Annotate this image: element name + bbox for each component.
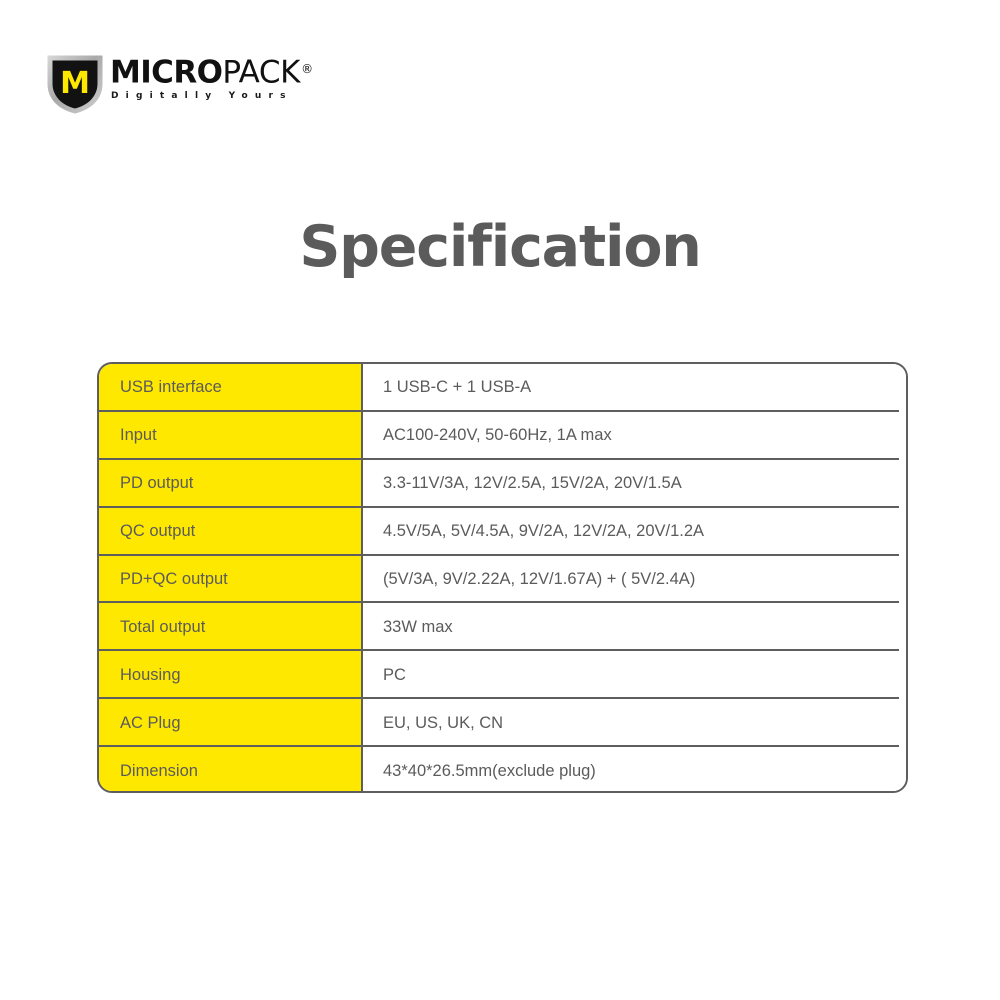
svg-text:M: M — [60, 66, 90, 101]
wordmark-light-part: PACK — [222, 54, 300, 90]
spec-value-cell: 4.5V/5A, 5V/4.5A, 9V/2A, 12V/2A, 20V/1.2… — [363, 508, 906, 556]
spec-value-cell: 3.3-11V/3A, 12V/2.5A, 15V/2A, 20V/1.5A — [363, 460, 906, 508]
spec-label-cell: Input — [99, 412, 363, 460]
spec-label-cell: PD+QC output — [99, 556, 363, 604]
table-row: PD output 3.3-11V/3A, 12V/2.5A, 15V/2A, … — [99, 460, 906, 508]
spec-value-cell: EU, US, UK, CN — [363, 699, 906, 747]
brand-wordmark: MICROPACK® — [110, 55, 340, 91]
micropack-shield-icon: M — [46, 53, 104, 115]
table-row: PD+QC output (5V/3A, 9V/2.22A, 12V/1.67A… — [99, 556, 906, 604]
table-row: Dimension 43*40*26.5mm(exclude plug) — [99, 747, 906, 793]
table-row: Input AC100-240V, 50-60Hz, 1A max — [99, 412, 906, 460]
spec-value-cell: 1 USB-C + 1 USB-A — [363, 364, 906, 412]
specification-table: USB interface 1 USB-C + 1 USB-A Input AC… — [97, 362, 908, 793]
registered-trademark-icon: ® — [301, 62, 313, 76]
spec-label-cell: USB interface — [99, 364, 363, 412]
table-row: AC Plug EU, US, UK, CN — [99, 699, 906, 747]
table-row: USB interface 1 USB-C + 1 USB-A — [99, 364, 906, 412]
spec-value-cell: 43*40*26.5mm(exclude plug) — [363, 747, 906, 793]
table-row: Housing PC — [99, 651, 906, 699]
brand-logo: M MICROPACK® Digitally Yours — [46, 53, 346, 117]
spec-value-cell: 33W max — [363, 603, 906, 651]
spec-label-cell: PD output — [99, 460, 363, 508]
spec-value-cell: AC100-240V, 50-60Hz, 1A max — [363, 412, 906, 460]
table-row: Total output 33W max — [99, 603, 906, 651]
page-title: Specification — [0, 212, 1000, 282]
spec-label-cell: QC output — [99, 508, 363, 556]
spec-label-cell: AC Plug — [99, 699, 363, 747]
spec-label-cell: Housing — [99, 651, 363, 699]
spec-label-cell: Total output — [99, 603, 363, 651]
spec-value-cell: (5V/3A, 9V/2.22A, 12V/1.67A) + ( 5V/2.4A… — [363, 556, 906, 604]
spec-label-cell: Dimension — [99, 747, 363, 793]
brand-tagline: Digitally Yours — [111, 91, 293, 101]
table-row: QC output 4.5V/5A, 5V/4.5A, 9V/2A, 12V/2… — [99, 508, 906, 556]
wordmark-bold-part: MICRO — [110, 54, 222, 90]
spec-value-cell: PC — [363, 651, 906, 699]
